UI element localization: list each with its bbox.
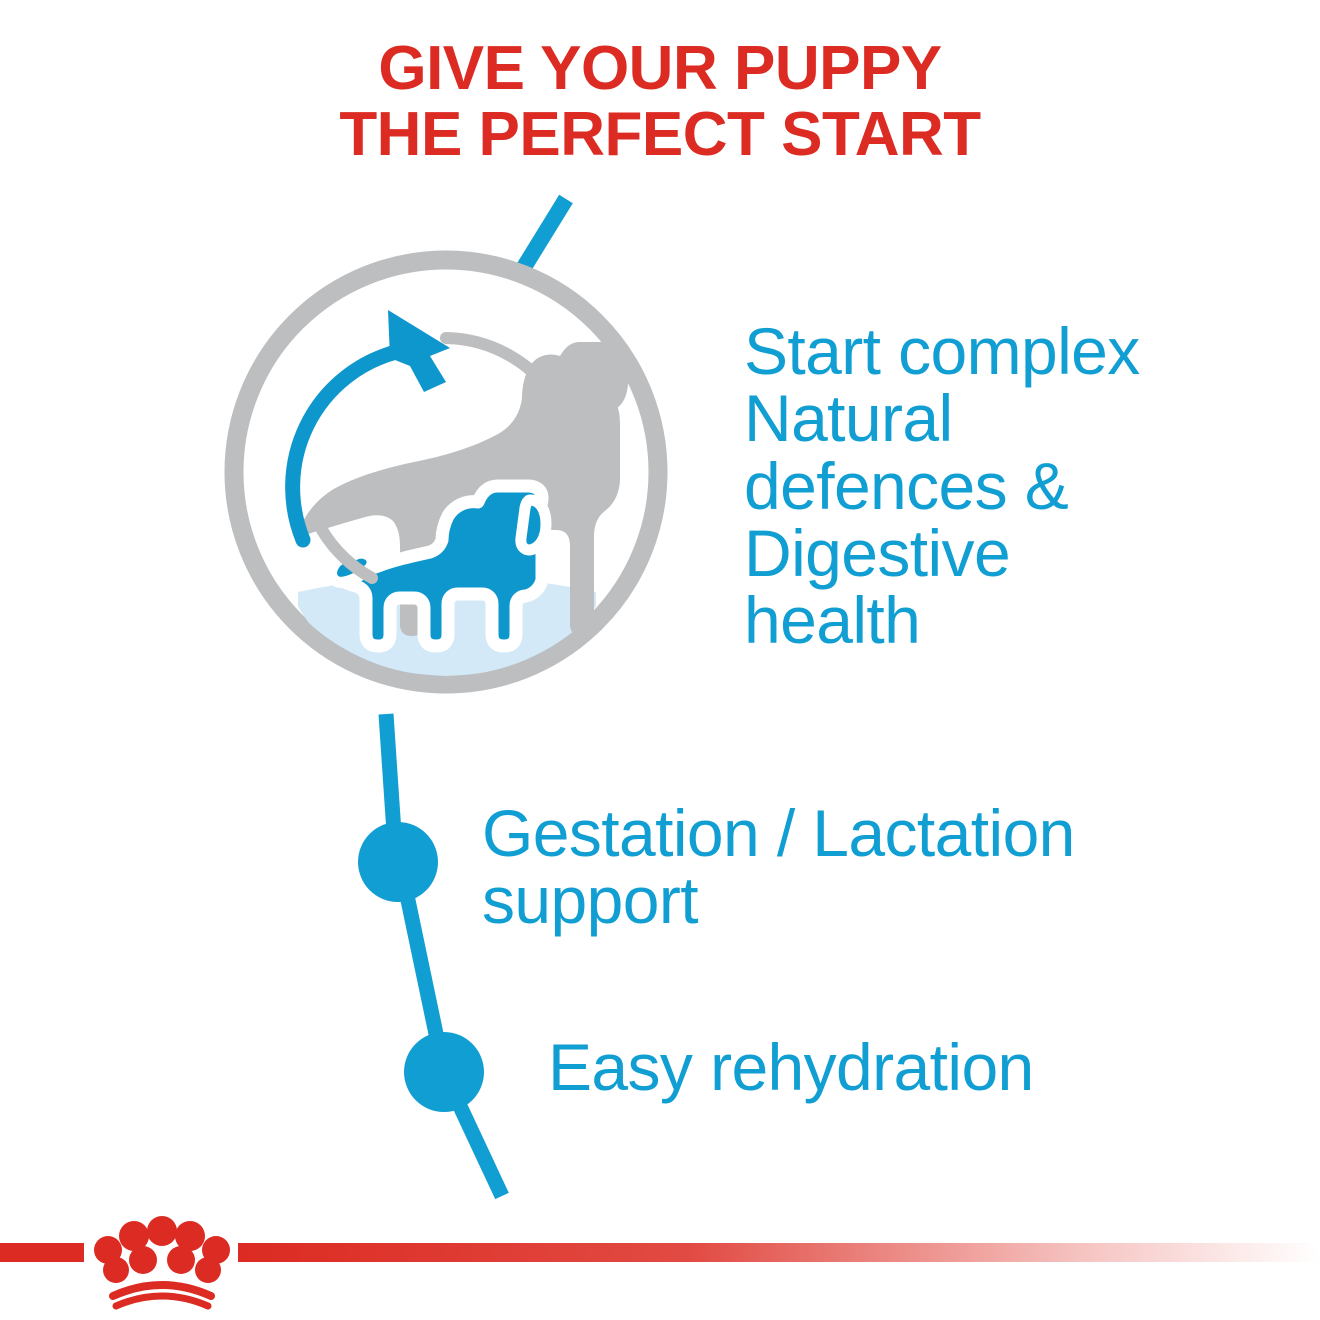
benefit-diagram	[0, 0, 1320, 1320]
connector-node-1	[358, 822, 438, 902]
connector-segment-top	[521, 199, 566, 272]
benefit-label-gestation-lactation: Gestation / Lactation support	[482, 800, 1302, 935]
connector-node-2	[404, 1032, 484, 1112]
footer-bar-left	[0, 1243, 84, 1262]
benefit-label-natural-defences: Start complex Natural defences & Digesti…	[744, 318, 1304, 655]
footer-bar-right	[238, 1243, 1320, 1262]
footer	[0, 1200, 1320, 1320]
puppy-growth-circle-icon	[234, 260, 658, 684]
royal-canin-crown-logo	[94, 1216, 230, 1306]
promo-page: GIVE YOUR PUPPY THE PERFECT START	[0, 0, 1320, 1320]
benefit-label-easy-rehydration: Easy rehydration	[548, 1034, 1308, 1101]
